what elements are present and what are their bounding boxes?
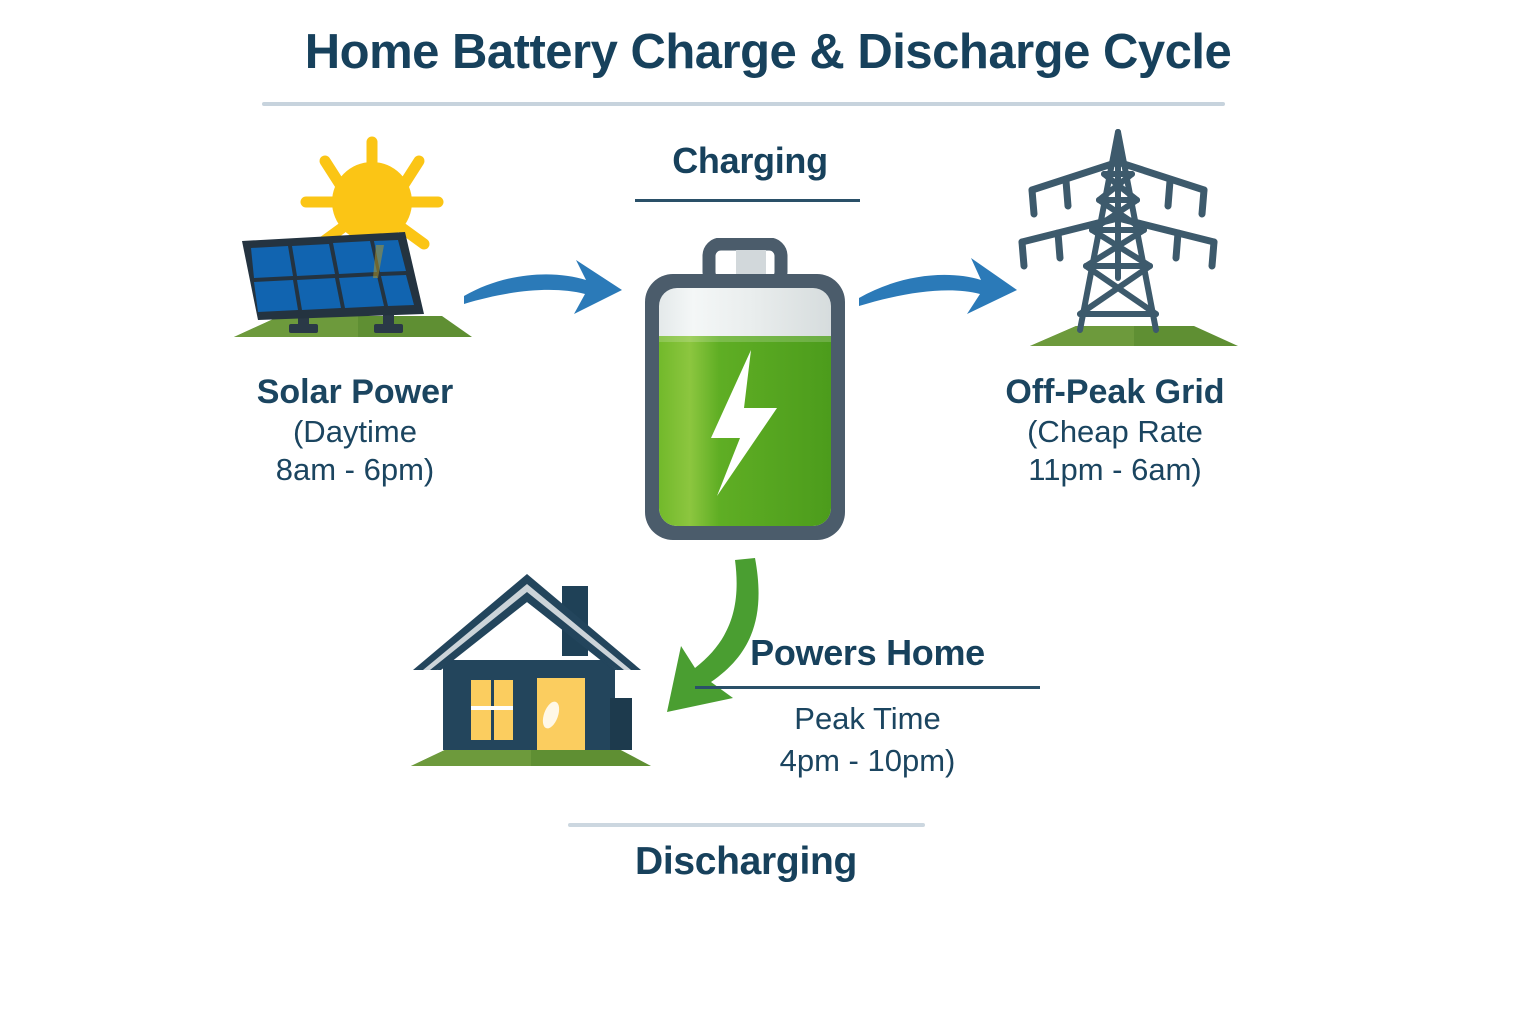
powers-home-sublines: Peak Time 4pm - 10pm) xyxy=(680,698,1055,782)
solar-power-label: Solar Power (Daytime 8am - 6pm) xyxy=(205,372,505,489)
discharging-label: Discharging xyxy=(543,840,949,884)
infographic-canvas: Home Battery Charge & Discharge Cycle xyxy=(0,0,1536,1024)
battery-icon xyxy=(628,238,870,563)
off-peak-grid-label: Off-Peak Grid (Cheap Rate 11pm - 6am) xyxy=(965,372,1265,489)
powers-subline-2: 4pm - 10pm) xyxy=(680,740,1055,782)
solar-panel-icon xyxy=(228,128,478,368)
charging-underline xyxy=(635,199,860,202)
grid-heading: Off-Peak Grid xyxy=(965,372,1265,413)
solar-subline-1: (Daytime xyxy=(205,413,505,451)
charging-label-wrap: Charging xyxy=(600,140,900,182)
page-title: Home Battery Charge & Discharge Cycle xyxy=(0,24,1536,80)
solar-heading: Solar Power xyxy=(205,372,505,413)
powers-home-underline xyxy=(695,686,1040,689)
powers-subline-1: Peak Time xyxy=(680,698,1055,740)
title-divider xyxy=(262,102,1225,106)
discharging-divider xyxy=(568,823,925,827)
transmission-tower-icon xyxy=(1018,118,1250,365)
powers-home-label: Powers Home xyxy=(695,632,1040,674)
house-icon xyxy=(405,558,660,798)
solar-subline-2: 8am - 6pm) xyxy=(205,451,505,489)
grid-subline-2: 11pm - 6am) xyxy=(965,451,1265,489)
grid-subline-1: (Cheap Rate xyxy=(965,413,1265,451)
charging-label: Charging xyxy=(672,140,828,181)
arrow-battery-to-grid xyxy=(853,250,1023,335)
arrow-solar-to-battery xyxy=(458,252,628,337)
